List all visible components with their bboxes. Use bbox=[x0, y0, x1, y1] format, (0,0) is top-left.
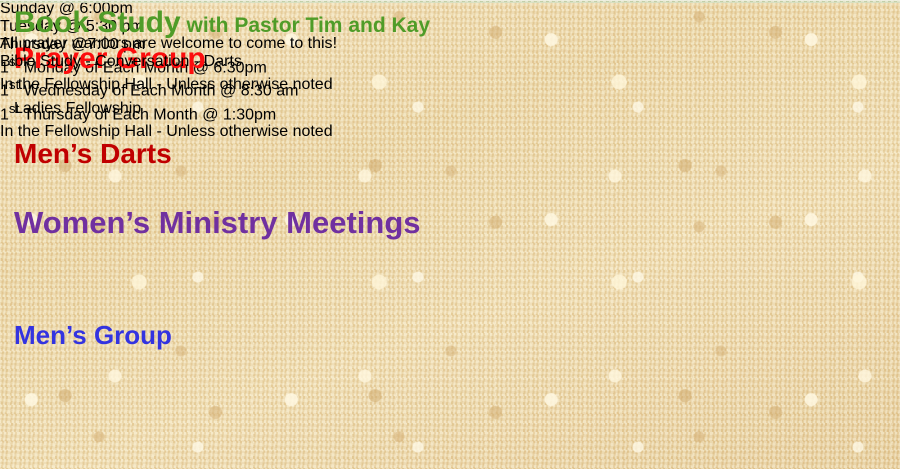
slide-top-rule-dots bbox=[0, 1, 900, 2]
note-fellowship-hall-bottom: In the Fellowship Hall - Unless otherwis… bbox=[0, 124, 333, 140]
heading-womens-ministry: Women’s Ministry Meetings bbox=[14, 207, 421, 238]
note-prayer-warriors-end: ! bbox=[333, 35, 337, 52]
first-thursday-ordinal: 1 bbox=[0, 106, 9, 123]
note-prayer-warriors-rest: prayer warriors are welcome to come to t… bbox=[18, 35, 333, 52]
book-study-subtitle: with Pastor Tim and Kay bbox=[181, 14, 430, 37]
heading-ladies-fellowship: Ladies Fellowship bbox=[14, 101, 141, 117]
note-fellowship-hall-top: In the Fellowship Hall - Unless otherwis… bbox=[0, 77, 333, 93]
note-bible-study-conversation-darts: Bible Study - Conversation - Darts bbox=[0, 54, 242, 70]
heading-mens-group: Men’s Group bbox=[14, 322, 172, 348]
note-prayer-warriors: All prayer warriors are welcome to come … bbox=[0, 36, 337, 52]
heading-book-study: Book Study with Pastor Tim and Kay bbox=[14, 8, 430, 38]
note-prayer-warriors-lead: All bbox=[0, 35, 18, 52]
slide-top-rule bbox=[0, 0, 900, 3]
church-schedule-slide: Book Study with Pastor Tim and Kay Praye… bbox=[0, 0, 900, 469]
heading-mens-darts: Men’s Darts bbox=[14, 140, 172, 168]
